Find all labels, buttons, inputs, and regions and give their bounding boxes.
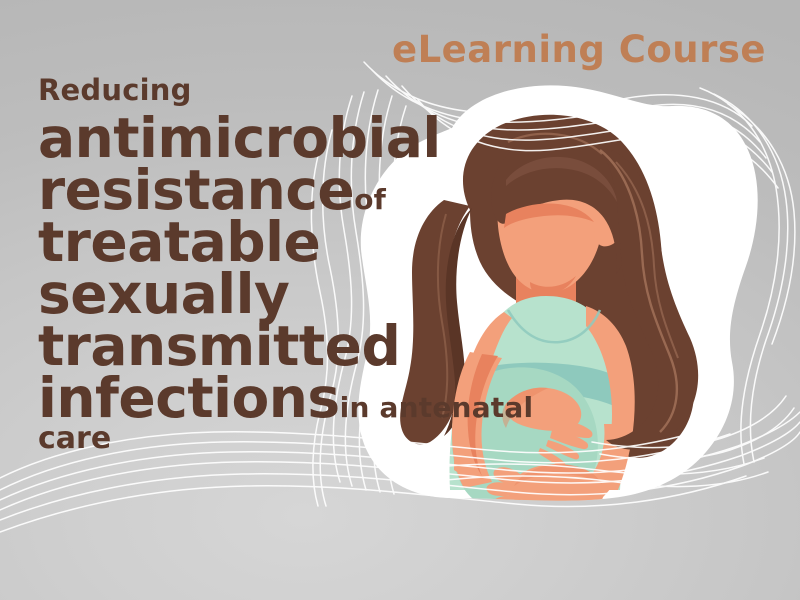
hand-lower bbox=[486, 464, 604, 511]
headline-block: Reducing antimicrobial resistanceof trea… bbox=[38, 76, 558, 454]
headline-line-2-suffix: of bbox=[354, 183, 386, 216]
headline-line-6-suffix: in antenatal bbox=[340, 391, 534, 424]
course-kicker: eLearning Course bbox=[392, 28, 766, 71]
headline-lead: Reducing bbox=[38, 76, 558, 105]
headline-line-6-wrap: infectionsin antenatal bbox=[38, 371, 558, 426]
poster-canvas: eLearning Course Reducing antimicrobial … bbox=[0, 0, 800, 600]
